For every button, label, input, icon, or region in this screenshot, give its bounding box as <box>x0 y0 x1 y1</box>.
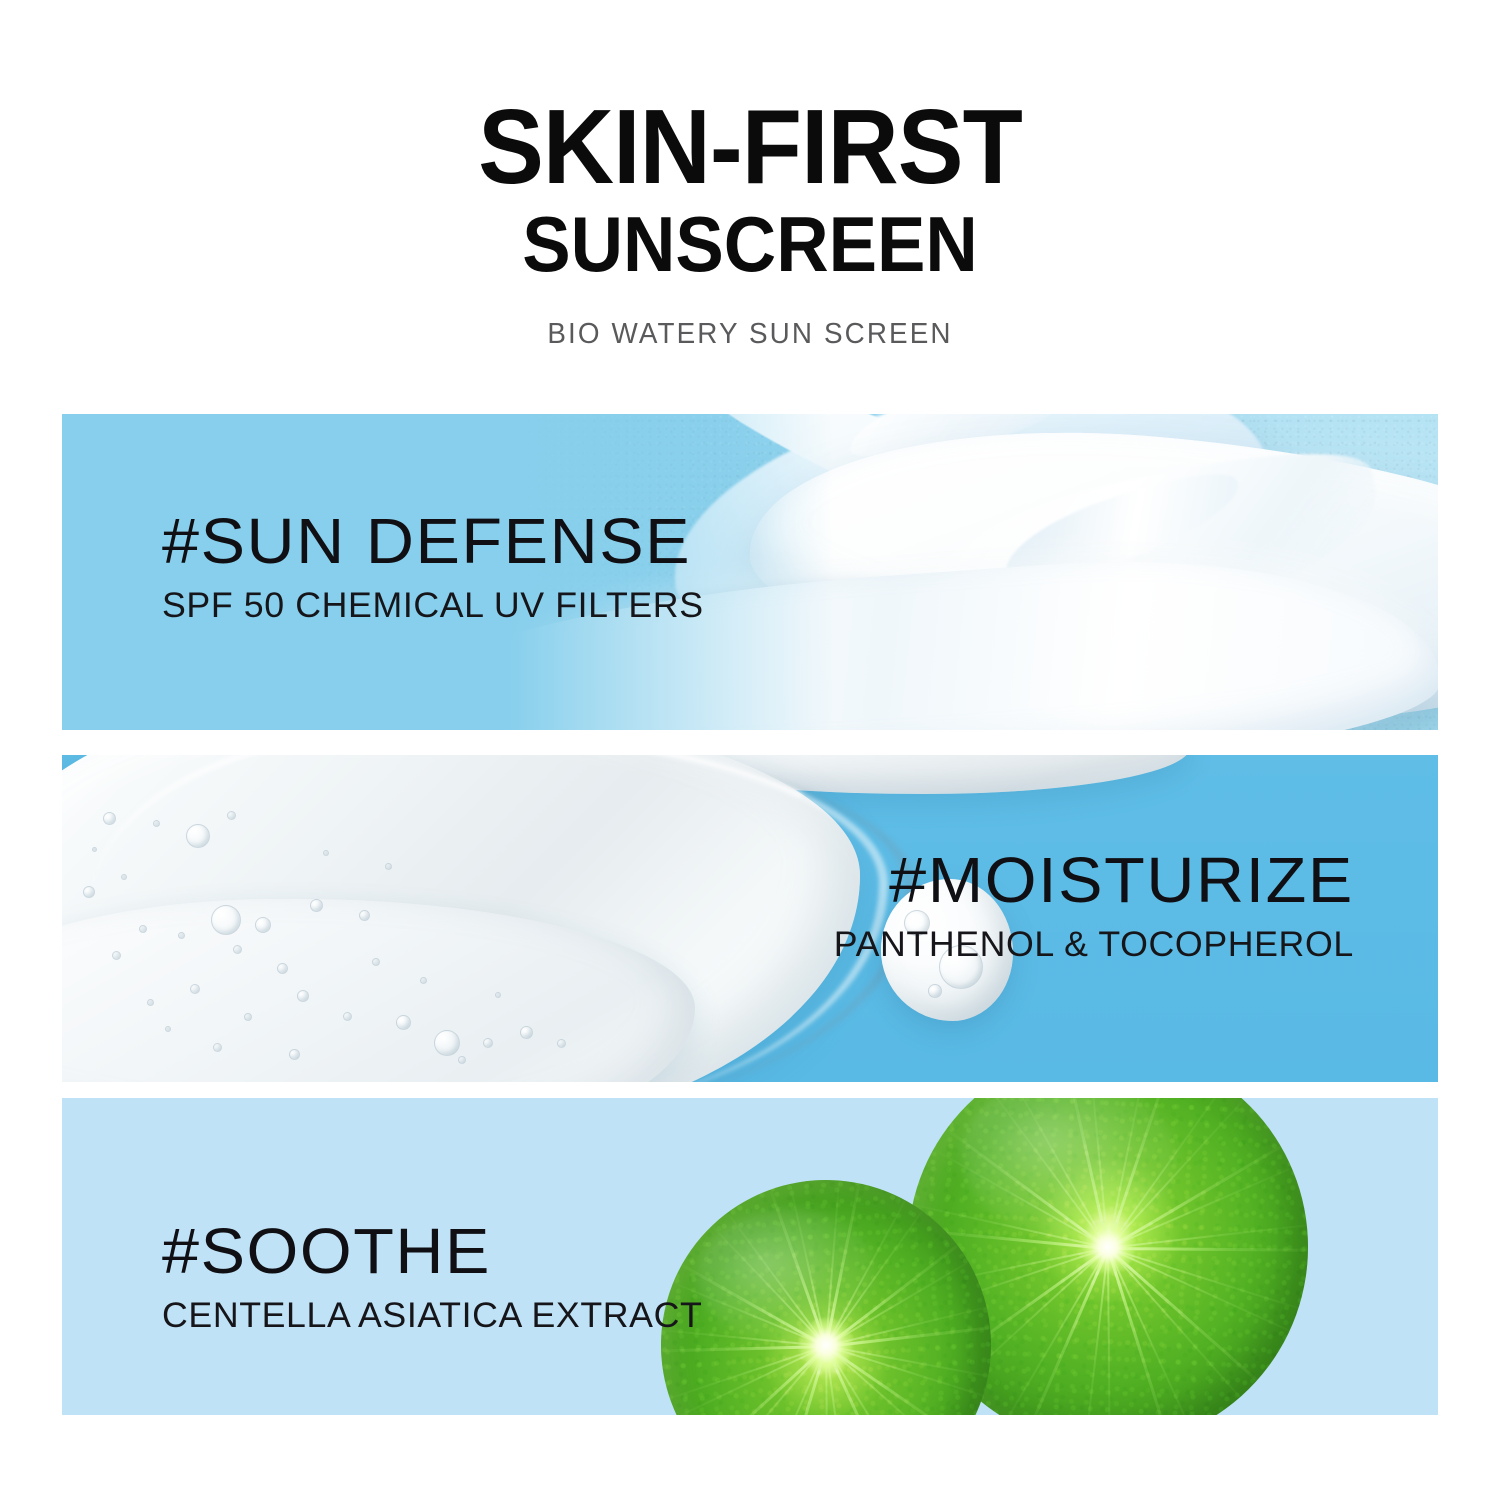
bubble <box>343 1012 352 1021</box>
banner-soothe-subtitle: CENTELLA ASIATICA EXTRACT <box>162 1298 702 1335</box>
banner-sun-defense-title: #SUN DEFENSE <box>162 508 714 575</box>
banner-soothe-title: #SOOTHE <box>162 1218 713 1285</box>
banner-moisturize: #MOISTURIZE PANTHENOL & TOCOPHEROL <box>62 755 1438 1082</box>
bubble <box>92 847 97 852</box>
bubble <box>147 999 154 1006</box>
bubble <box>190 984 200 994</box>
infographic-page: SKIN-FIRST SUNSCREEN BIO WATERY SUN SCRE… <box>0 0 1500 1500</box>
page-title-line1: SKIN-FIRST <box>53 94 1448 200</box>
gel-edge-highlight <box>90 755 888 1082</box>
banner-moisturize-text: #MOISTURIZE PANTHENOL & TOCOPHEROL <box>844 847 1354 964</box>
bubble <box>483 1038 493 1048</box>
bubble <box>372 958 380 966</box>
bubble <box>244 1013 252 1021</box>
page-title-line2: SUNSCREEN <box>53 205 1448 283</box>
banner-moisturize-subtitle: PANTHENOL & TOCOPHEROL <box>834 927 1354 964</box>
bubble <box>928 984 942 998</box>
bubble <box>233 945 242 954</box>
bubble <box>255 917 271 933</box>
bubble <box>227 811 236 820</box>
bubble <box>211 905 241 935</box>
bubble <box>186 824 210 848</box>
banner-sun-defense-subtitle: SPF 50 CHEMICAL UV FILTERS <box>162 588 704 625</box>
header: SKIN-FIRST SUNSCREEN BIO WATERY SUN SCRE… <box>0 0 1500 400</box>
banner-soothe-text: #SOOTHE CENTELLA ASIATICA EXTRACT <box>162 1218 692 1335</box>
bubble <box>277 963 288 974</box>
bubble <box>83 886 95 898</box>
banner-soothe: #SOOTHE CENTELLA ASIATICA EXTRACT <box>62 1098 1438 1415</box>
bubble <box>434 1030 460 1056</box>
bubble <box>310 899 323 912</box>
banner-moisturize-title: #MOISTURIZE <box>824 847 1354 914</box>
bubble <box>178 932 185 939</box>
banner-sun-defense-text: #SUN DEFENSE SPF 50 CHEMICAL UV FILTERS <box>162 508 693 625</box>
page-tagline: BIO WATERY SUN SCREEN <box>30 318 1470 351</box>
banner-sun-defense: #SUN DEFENSE SPF 50 CHEMICAL UV FILTERS <box>62 414 1438 730</box>
bubble <box>112 951 121 960</box>
